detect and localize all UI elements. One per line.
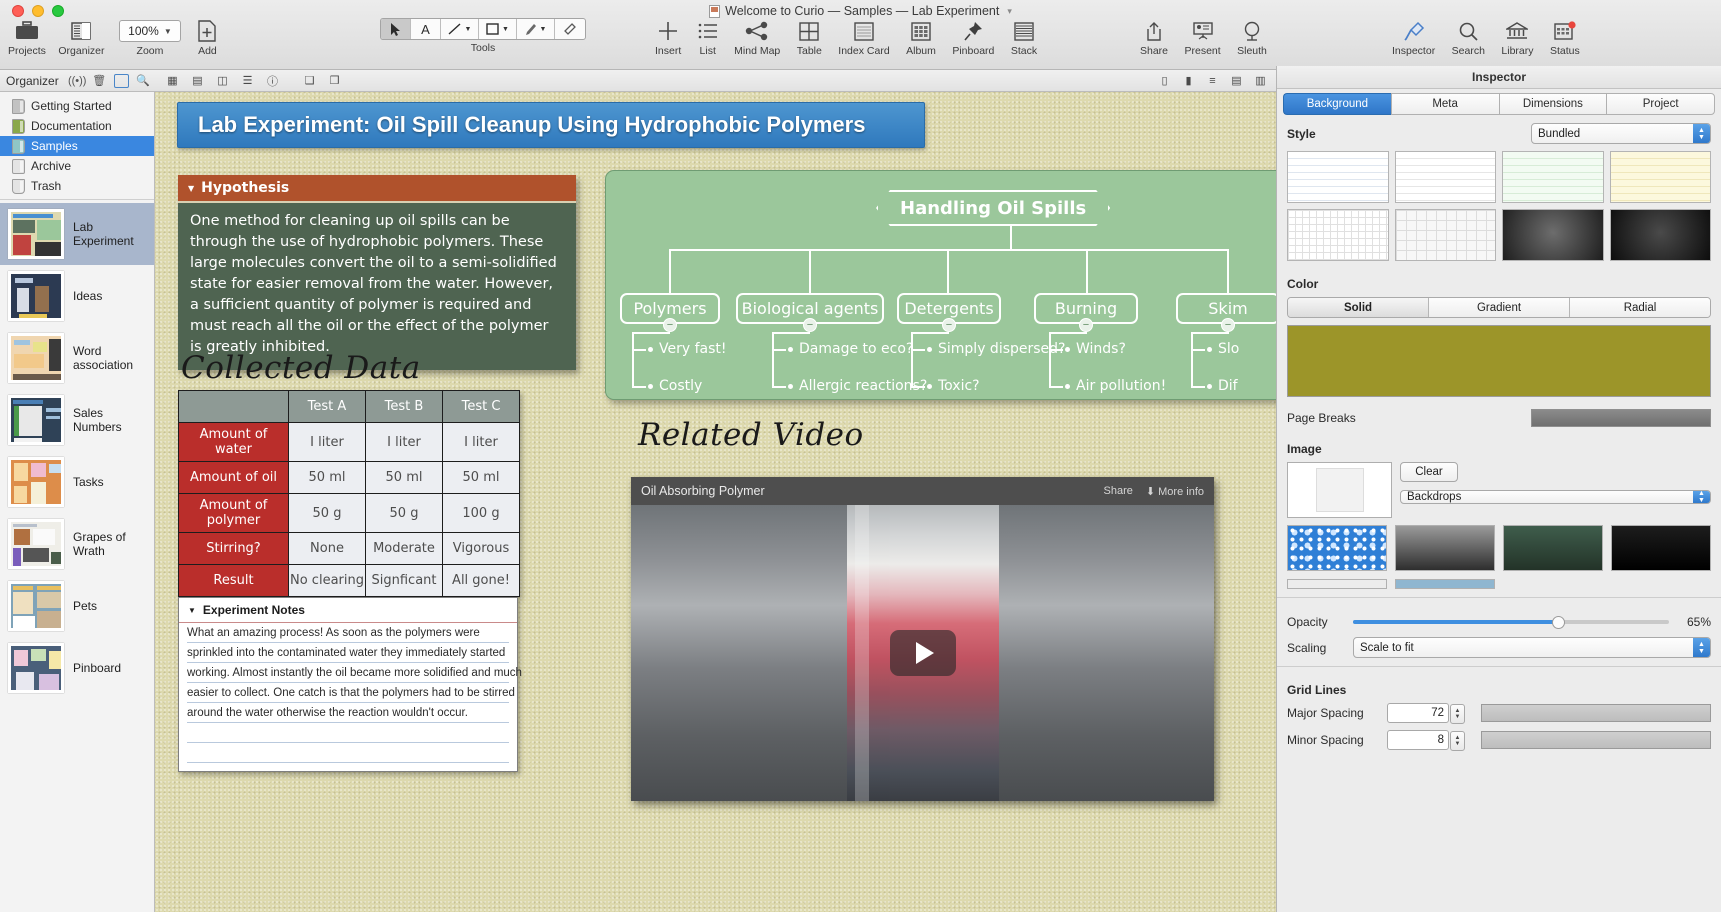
connector — [1049, 332, 1051, 388]
toolbar-pinboard-label: Pinboard — [952, 45, 994, 57]
sidebar-label: Documentation — [31, 119, 112, 133]
color-mode-tabs[interactable]: Solid Gradient Radial — [1287, 297, 1711, 318]
list-item-label: Ideas — [73, 289, 102, 303]
toolbar-stack-label: Stack — [1011, 45, 1037, 57]
notebook-icon — [12, 139, 25, 154]
mindmap-child[interactable]: Damage to eco? — [788, 341, 913, 357]
download-icon: ⬇ — [1146, 486, 1155, 498]
image-label: Image — [1287, 442, 1711, 456]
pushpin-icon — [952, 18, 994, 44]
bullet-icon — [648, 347, 653, 352]
share-icon — [1140, 18, 1168, 44]
pen-tool[interactable]: ▼ — [517, 19, 555, 39]
toolbar-projects[interactable]: Projects — [8, 18, 46, 57]
color-mode-radial[interactable]: Radial — [1570, 298, 1710, 317]
opacity-slider[interactable] — [1353, 614, 1669, 630]
list-item[interactable]: Pets — [0, 575, 154, 637]
settings-icon[interactable]: ▥ — [1253, 74, 1268, 88]
major-spacing-value: 72 — [1431, 707, 1444, 719]
style-swatch[interactable] — [1395, 151, 1497, 203]
inspector-icon — [1392, 18, 1435, 44]
table-cell[interactable]: 50 ml — [366, 462, 443, 494]
toolbar-organizer[interactable]: Organizer — [58, 18, 104, 57]
video-header-actions: Share ⬇ More info — [1104, 485, 1205, 498]
table-cell[interactable]: I liter — [443, 423, 520, 462]
organizer-title: Organizer — [6, 74, 59, 88]
video-more-info-button[interactable]: ⬇ More info — [1146, 485, 1204, 498]
connector — [1191, 386, 1205, 388]
table-cell[interactable]: None — [289, 533, 366, 565]
connector — [1191, 349, 1205, 351]
color-mode-solid[interactable]: Solid — [1288, 298, 1429, 317]
list-item[interactable]: Lab Experiment — [0, 203, 154, 265]
align-center-icon[interactable]: ▮ — [1181, 74, 1196, 88]
minor-spacing-label: Minor Spacing — [1287, 733, 1379, 747]
tools-group-label: Tools — [380, 42, 586, 54]
connector — [772, 349, 786, 351]
note-line — [187, 743, 509, 763]
layers-icon[interactable]: ▤ — [1229, 74, 1244, 88]
style-swatch[interactable] — [1610, 209, 1712, 261]
organizer-sidebar[interactable]: Getting Started Documentation Samples Ar… — [0, 92, 155, 912]
canvas-toolbar: ▦ ▤ ◫ ☰ ⓘ ❑ ❒ ▯ ▮ ≡ ▤ ▥ — [155, 70, 1276, 92]
connector — [911, 349, 925, 351]
disclosure-triangle-icon[interactable]: ▼ — [188, 606, 196, 615]
table-header-row: Test A Test B Test C — [179, 391, 520, 423]
stepper-arrows-icon[interactable]: ▲▼ — [1450, 731, 1465, 751]
row-header: Amount of polymer — [179, 494, 289, 533]
scaling-label: Scaling — [1287, 641, 1345, 655]
opacity-label: Opacity — [1287, 615, 1345, 629]
play-button[interactable] — [890, 630, 956, 676]
eraser-tool[interactable] — [555, 19, 585, 39]
ungroup-icon[interactable]: ❒ — [327, 74, 342, 88]
thumbnail — [8, 457, 64, 507]
bullet-icon — [788, 384, 793, 389]
table-cell[interactable]: 100 g — [443, 494, 520, 533]
toolbar-album-label: Album — [906, 45, 936, 57]
info-icon[interactable]: ⓘ — [265, 74, 280, 88]
toolbar-organizer-label: Organizer — [58, 45, 104, 57]
index-card-icon — [838, 18, 889, 44]
mindmap-figure[interactable]: Handling Oil Spills Polymers Biological … — [605, 170, 1276, 400]
table-row[interactable]: Stirring? None Moderate Vigorous — [179, 533, 520, 565]
trash-icon — [12, 179, 25, 194]
backdrop-swatch[interactable] — [1503, 525, 1603, 571]
thumbnail — [8, 581, 64, 631]
table-column-header: Test C — [443, 391, 520, 423]
toolbar-inspector[interactable]: Inspector — [1392, 18, 1435, 57]
table-cell[interactable]: 50 ml — [443, 462, 520, 494]
list-item-label: Grapes of Wrath — [73, 530, 146, 558]
table-column-header: Test A — [289, 391, 366, 423]
idea-canvas[interactable]: Lab Experiment: Oil Spill Cleanup Using … — [155, 92, 1276, 912]
toolbar-share[interactable]: Share — [1140, 18, 1168, 57]
sources-list: Getting Started Documentation Samples Ar… — [0, 92, 154, 196]
arrow-tool[interactable] — [381, 19, 411, 39]
chevron-updown-icon: ▲▼ — [1693, 124, 1710, 143]
major-grid-color-well[interactable] — [1481, 704, 1711, 722]
briefcase-icon — [8, 18, 46, 44]
table-cell[interactable]: I liter — [289, 423, 366, 462]
zoom-value: 100% — [128, 24, 159, 38]
minor-spacing-value: 8 — [1438, 734, 1444, 746]
related-video-heading: Related Video — [638, 417, 864, 453]
connector — [1010, 226, 1012, 250]
thumbnail — [8, 519, 64, 569]
image-source-value: Backdrops — [1407, 491, 1461, 503]
major-spacing-stepper[interactable]: 72 ▲▼ — [1387, 703, 1449, 723]
canvas-toolbar-right: ▯ ▮ ≡ ▤ ▥ — [1157, 74, 1268, 88]
sidebar-label: Archive — [31, 159, 71, 173]
toolbar-list[interactable]: List — [698, 18, 718, 57]
line-tool[interactable]: ▼ — [441, 19, 479, 39]
style-swatch[interactable] — [1287, 151, 1389, 203]
connector — [911, 332, 913, 388]
archive-box-icon — [12, 159, 25, 174]
mindmap-child[interactable]: Allergic reactions? — [788, 378, 927, 394]
notes-body[interactable]: What an amazing process! As soon as the … — [179, 623, 517, 771]
toolbar-table[interactable]: Table — [797, 18, 822, 57]
shape-tool[interactable]: ▼ — [479, 19, 517, 39]
bullet-icon — [1207, 347, 1212, 352]
table-view-icon[interactable]: ▤ — [190, 74, 205, 88]
toolbar-zoom-label: Zoom — [119, 45, 181, 57]
opacity-value: 65% — [1677, 615, 1711, 629]
list-icon — [698, 18, 718, 44]
toolbar-index-card[interactable]: Index Card — [838, 18, 889, 57]
hypothesis-title: Hypothesis — [201, 180, 289, 196]
toolbar-search[interactable]: Search — [1452, 18, 1485, 57]
scaling-value: Scale to fit — [1360, 642, 1414, 654]
plus-icon — [655, 18, 681, 44]
ideas-list: Lab Experiment Ideas Word association — [0, 203, 154, 699]
style-swatch[interactable] — [1287, 209, 1389, 261]
table-cell[interactable]: All gone! — [443, 565, 520, 597]
bullet-icon — [927, 384, 932, 389]
divider — [0, 199, 154, 200]
toolbar-library[interactable]: Library — [1501, 18, 1533, 57]
status-icon — [1550, 18, 1580, 44]
sidebar-item-trash[interactable]: Trash — [0, 176, 154, 196]
bullet-icon — [927, 347, 932, 352]
thumbnail — [8, 643, 64, 693]
note-line: around the water otherwise the reaction … — [187, 703, 509, 723]
connector — [1086, 249, 1088, 293]
video-frame[interactable] — [631, 505, 1214, 801]
grid-view-icon[interactable]: ▦ — [165, 74, 180, 88]
shape-view-icon[interactable]: ◫ — [215, 74, 230, 88]
zoom-select[interactable]: 100% ▼ — [119, 20, 181, 42]
mindmap-child[interactable]: Toxic? — [927, 378, 980, 394]
connector — [1191, 332, 1193, 388]
toolbar-table-label: Table — [797, 45, 822, 57]
connector — [669, 249, 1229, 251]
bullet-icon — [1065, 347, 1070, 352]
mindmap-child[interactable]: Dif — [1207, 378, 1238, 394]
sidebar-item-archive[interactable]: Archive — [0, 156, 154, 176]
table-cell[interactable]: Signficant — [366, 565, 443, 597]
chevron-down-icon: ▼ — [164, 27, 172, 36]
thumbnail — [8, 271, 64, 321]
connector — [1049, 332, 1087, 334]
collapse-button[interactable]: − — [663, 318, 677, 332]
image-well[interactable] — [1287, 462, 1392, 518]
hypothesis-body: One method for cleaning up oil spills ca… — [178, 203, 576, 370]
toolbar-status-label: Status — [1550, 45, 1580, 57]
minor-spacing-stepper[interactable]: 8 ▲▼ — [1387, 730, 1449, 750]
major-spacing-label: Major Spacing — [1287, 706, 1379, 720]
note-line — [187, 723, 509, 743]
align-left-icon[interactable]: ▯ — [1157, 74, 1172, 88]
page-toggle-icon[interactable] — [114, 74, 129, 88]
toolbar-present[interactable]: Present — [1184, 18, 1220, 57]
list-item[interactable]: Tasks — [0, 451, 154, 513]
toolbar-add[interactable]: Add — [197, 18, 217, 57]
list-item-label: Tasks — [73, 475, 104, 489]
inspector-tabs[interactable]: Background Meta Dimensions Project — [1277, 89, 1721, 115]
connector — [1049, 349, 1063, 351]
sidebar-item-getting-started[interactable]: Getting Started — [0, 96, 154, 116]
list-item[interactable]: Grapes of Wrath — [0, 513, 154, 575]
connector — [1049, 386, 1063, 388]
sidebar-label: Getting Started — [31, 99, 112, 113]
image-source-select[interactable]: Backdrops ▲▼ — [1400, 490, 1711, 504]
hypothesis-header[interactable]: ▼ Hypothesis — [178, 175, 576, 203]
connector — [911, 332, 949, 334]
bullet-icon — [1065, 384, 1070, 389]
backdrop-swatch[interactable] — [1395, 525, 1495, 571]
connector — [809, 249, 811, 293]
collapse-button[interactable]: − — [803, 318, 817, 332]
opacity-section: Opacity 65% Scaling Scale to fit ▲▼ — [1277, 606, 1721, 658]
mindmap-child[interactable]: Very fast! — [648, 341, 727, 357]
connector — [1227, 249, 1229, 293]
row-header: Amount of water — [179, 423, 289, 462]
inspector-title: Inspector — [1277, 66, 1721, 89]
connector — [632, 332, 634, 388]
image-section: Image Clear Backdrops ▲▼ — [1277, 434, 1721, 589]
distribute-icon[interactable]: ≡ — [1205, 74, 1220, 88]
mindmap-root-node[interactable]: Handling Oil Spills — [876, 190, 1110, 226]
backdrop-swatch[interactable] — [1287, 579, 1387, 589]
notes-title: Experiment Notes — [203, 603, 305, 617]
mindmap-child[interactable]: Winds? — [1065, 341, 1126, 357]
note-line: working. Almost instantly the oil became… — [187, 663, 509, 683]
album-icon — [906, 18, 936, 44]
mindmap-icon — [734, 18, 780, 44]
connector — [947, 249, 949, 293]
sidebar-item-samples[interactable]: Samples — [0, 136, 154, 156]
bullet-icon — [648, 384, 653, 389]
present-icon — [1184, 18, 1220, 44]
collapse-button[interactable]: − — [1079, 318, 1093, 332]
list-view-icon[interactable]: ☰ — [240, 74, 255, 88]
broadcast-icon[interactable]: ((•)) — [70, 74, 85, 88]
table-row[interactable]: Amount of oil 50 ml 50 ml 50 ml — [179, 462, 520, 494]
tab-project[interactable]: Project — [1606, 93, 1715, 115]
sidebar-label: Trash — [31, 179, 61, 193]
table-row[interactable]: Amount of water I liter I liter I liter — [179, 423, 520, 462]
window-title-bar: Welcome to Curio — Samples — Lab Experim… — [0, 4, 1721, 18]
tab-dimensions[interactable]: Dimensions — [1499, 93, 1607, 115]
connector — [1191, 332, 1229, 334]
toolbar-insert[interactable]: Insert — [655, 18, 681, 57]
clear-button[interactable]: Clear — [1400, 462, 1458, 482]
mindmap-child[interactable]: Costly — [648, 378, 702, 394]
table-cell[interactable]: 50 g — [289, 494, 366, 533]
toolbar-mindmap[interactable]: Mind Map — [734, 18, 780, 57]
list-item-label: Pinboard — [73, 661, 121, 675]
minor-grid-color-well[interactable] — [1481, 731, 1711, 749]
table-row[interactable]: Amount of polymer 50 g 50 g 100 g — [179, 494, 520, 533]
toolbar-album[interactable]: Album — [906, 18, 936, 57]
list-item[interactable]: Pinboard — [0, 637, 154, 699]
toolbar-projects-label: Projects — [8, 45, 46, 57]
chevron-down-icon[interactable]: ▾ — [1007, 6, 1012, 17]
toolbar-present-label: Present — [1184, 45, 1220, 57]
bullet-icon — [1207, 384, 1212, 389]
toolbar-search-label: Search — [1452, 45, 1485, 57]
hypothesis-card[interactable]: ▼ Hypothesis One method for cleaning up … — [178, 175, 576, 370]
connector — [632, 386, 646, 388]
style-swatch[interactable] — [1395, 209, 1497, 261]
note-line: sprinkled into the contaminated water th… — [187, 643, 509, 663]
style-section: Style Bundled ▲▼ — [1277, 115, 1721, 261]
page-title: Lab Experiment: Oil Spill Cleanup Using … — [177, 102, 925, 148]
connector — [669, 249, 671, 293]
toolbar-library-label: Library — [1501, 45, 1533, 57]
style-swatch[interactable] — [1502, 209, 1604, 261]
list-item[interactable]: Sales Numbers — [0, 389, 154, 451]
connector — [632, 332, 670, 334]
table-cell[interactable]: 50 ml — [289, 462, 366, 494]
search-icon[interactable]: 🔍 — [136, 74, 151, 88]
list-item-label: Sales Numbers — [73, 406, 146, 434]
inspector-panel[interactable]: Inspector Background Meta Dimensions Pro… — [1276, 66, 1721, 912]
style-label: Style — [1287, 127, 1316, 141]
video-share-button[interactable]: Share — [1104, 485, 1133, 497]
toolbar-mindmap-label: Mind Map — [734, 45, 780, 57]
tab-meta[interactable]: Meta — [1391, 93, 1499, 115]
color-swatch[interactable] — [1287, 325, 1711, 397]
video-title: Oil Absorbing Polymer — [641, 484, 765, 498]
toolbar-sleuth[interactable]: Sleuth — [1237, 18, 1267, 57]
table-row[interactable]: Result No clearing Signficant All gone! — [179, 565, 520, 597]
style-swatch[interactable] — [1610, 151, 1712, 203]
backdrop-swatches[interactable] — [1287, 525, 1711, 589]
page-breaks-color-well[interactable] — [1531, 409, 1711, 427]
table-column-header: Test B — [366, 391, 443, 423]
grid-lines-label: Grid Lines — [1287, 683, 1711, 697]
main-toolbar: Welcome to Curio — Samples — Lab Experim… — [0, 0, 1721, 70]
toolbar-stack[interactable]: Stack — [1011, 18, 1037, 57]
window-title: Welcome to Curio — Samples — Lab Experim… — [725, 4, 999, 18]
mindmap-child[interactable]: Slo — [1207, 341, 1239, 357]
style-select[interactable]: Bundled ▲▼ — [1531, 123, 1711, 144]
toolbar-index-card-label: Index Card — [838, 45, 889, 57]
thumbnail — [8, 333, 64, 383]
sleuth-icon — [1237, 18, 1267, 44]
experiment-notes-card[interactable]: ▼ Experiment Notes What an amazing proce… — [178, 597, 518, 772]
style-value: Bundled — [1538, 128, 1580, 140]
toolbar-insert-label: Insert — [655, 45, 681, 57]
notes-header[interactable]: ▼ Experiment Notes — [179, 598, 517, 623]
list-item[interactable]: Ideas — [0, 265, 154, 327]
notebook-icon — [12, 99, 25, 114]
collapse-button[interactable]: − — [942, 318, 956, 332]
stepper-arrows-icon[interactable]: ▲▼ — [1450, 704, 1465, 724]
toolbar-share-label: Share — [1140, 45, 1168, 57]
mindmap-child[interactable]: Simply dispersed? — [927, 341, 1065, 357]
disclosure-triangle-icon[interactable]: ▼ — [188, 184, 194, 193]
toolbar-inspector-label: Inspector — [1392, 45, 1435, 57]
group-icon[interactable]: ❑ — [302, 74, 317, 88]
connector — [772, 332, 774, 388]
bullet-icon — [788, 347, 793, 352]
table-icon — [797, 18, 822, 44]
sidebar-item-documentation[interactable]: Documentation — [0, 116, 154, 136]
connector — [632, 349, 646, 351]
thumbnail — [8, 209, 64, 259]
color-section: Color Solid Gradient Radial — [1277, 269, 1721, 397]
toolbar-add-label: Add — [197, 45, 217, 57]
backdrop-swatch[interactable] — [1611, 525, 1711, 571]
table-cell[interactable]: No clearing — [289, 565, 366, 597]
list-item-label: Lab Experiment — [73, 220, 146, 248]
tab-background[interactable]: Background — [1283, 93, 1391, 115]
list-item[interactable]: Word association — [0, 327, 154, 389]
backdrop-swatch[interactable] — [1287, 525, 1387, 571]
organizer-header: Organizer ((•)) 🗑 🔍 — [0, 70, 155, 92]
toolbar-zoom[interactable]: 100% ▼ Zoom — [119, 18, 181, 57]
row-header: Stirring? — [179, 533, 289, 565]
mindmap-child[interactable]: Air pollution! — [1065, 378, 1166, 394]
trash-icon[interactable]: 🗑 — [92, 74, 107, 88]
table-cell[interactable]: 50 g — [366, 494, 443, 533]
toolbar-pinboard[interactable]: Pinboard — [952, 18, 994, 57]
list-item-label: Pets — [73, 599, 97, 613]
toolbar-sleuth-label: Sleuth — [1237, 45, 1267, 57]
scaling-select[interactable]: Scale to fit ▲▼ — [1353, 637, 1711, 658]
color-mode-gradient[interactable]: Gradient — [1429, 298, 1570, 317]
tools-segmented-control[interactable]: A ▼ ▼ ▼ — [380, 18, 586, 40]
search-icon — [1452, 18, 1485, 44]
text-tool[interactable]: A — [411, 19, 441, 39]
style-swatch[interactable] — [1502, 151, 1604, 203]
color-label: Color — [1287, 277, 1711, 291]
stack-icon — [1011, 18, 1037, 44]
note-line: easier to collect. One catch is that the… — [187, 683, 509, 703]
table-cell[interactable]: Moderate — [366, 533, 443, 565]
library-icon — [1501, 18, 1533, 44]
toolbar-status[interactable]: Status — [1550, 18, 1580, 57]
row-header: Result — [179, 565, 289, 597]
collected-data-table[interactable]: Test A Test B Test C Amount of water I l… — [178, 390, 520, 597]
add-page-icon — [197, 18, 217, 44]
collapse-button[interactable]: − — [1221, 318, 1235, 332]
backdrop-swatch[interactable] — [1395, 579, 1495, 589]
table-cell[interactable]: Vigorous — [443, 533, 520, 565]
video-header: Oil Absorbing Polymer Share ⬇ More info — [631, 477, 1214, 505]
organizer-icon — [58, 18, 104, 44]
grid-lines-section: Grid Lines Major Spacing 72 ▲▼ Minor Spa… — [1277, 675, 1721, 750]
list-item-label: Word association — [73, 344, 146, 372]
table-cell[interactable]: I liter — [366, 423, 443, 462]
style-swatches[interactable] — [1287, 151, 1711, 261]
note-line: What an amazing process! As soon as the … — [187, 623, 509, 643]
video-player[interactable]: Oil Absorbing Polymer Share ⬇ More info — [631, 477, 1214, 801]
